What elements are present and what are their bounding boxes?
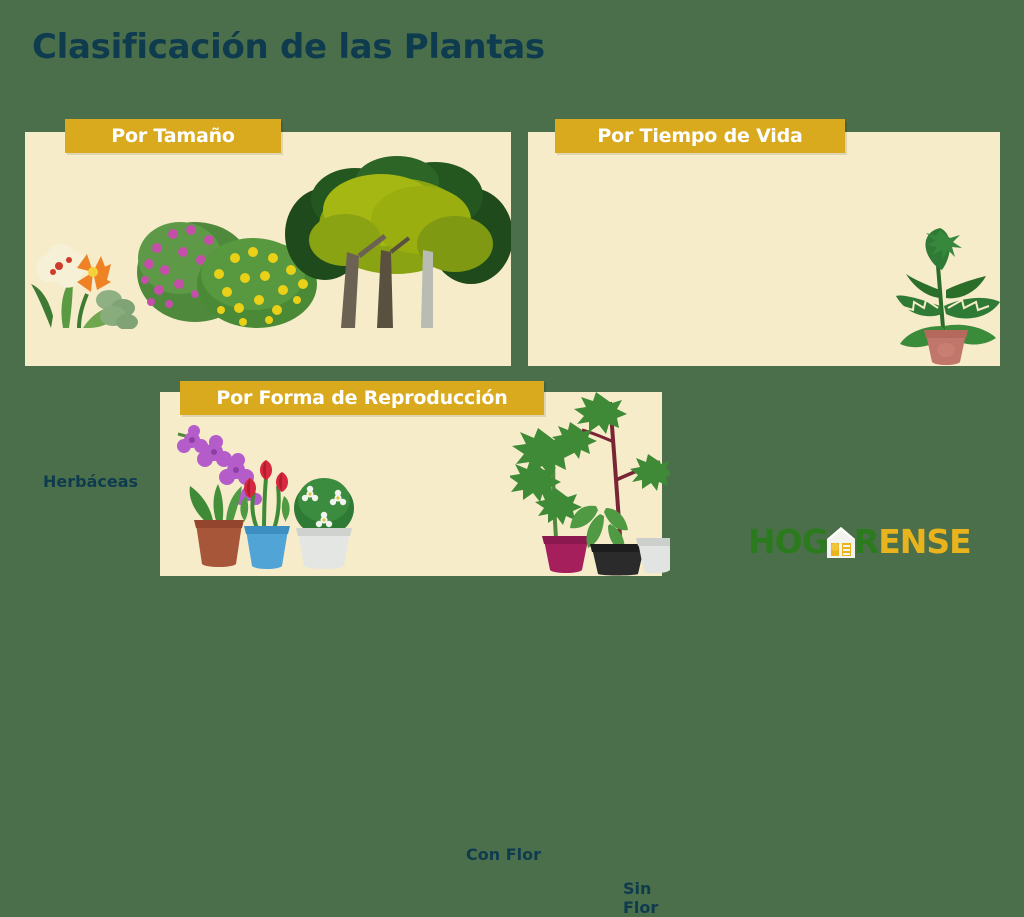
panel-por-forma-de-reproduccion: Con Flor Sin Flor [160, 392, 662, 576]
panel-por-tiempo-de-vida: PRIMAVERA / VERANO OTOÑO / INVERNO Anual… [528, 132, 1000, 366]
logo-text-part3: ENSE [878, 525, 970, 558]
label-sin-flor: Sin Flor [623, 879, 662, 917]
planta-maceta-illustration [896, 222, 1008, 366]
badge-por-tamano: Por Tamaño [65, 119, 281, 153]
label-con-flor: Con Flor [466, 845, 541, 864]
house-icon [826, 526, 856, 559]
con-flor-illustration [174, 416, 364, 574]
logo-text-part2: R [854, 525, 878, 558]
herbaceas-illustration [23, 224, 141, 329]
logo-text-part1: HOG [748, 525, 828, 558]
sin-flor-illustration [510, 388, 670, 576]
hogarense-logo[interactable]: HOG R ENSE [748, 525, 971, 558]
badge-por-forma-de-reproduccion: Por Forma de Reproducción [180, 381, 544, 415]
infographic-canvas: Clasificación de las Plantas [0, 0, 1024, 576]
badge-por-tiempo-de-vida: Por Tiempo de Vida [555, 119, 845, 153]
label-herbaceas: Herbáceas [43, 472, 138, 491]
panel-por-tamano: Herbáceas Arbustos Arboles [25, 132, 511, 366]
page-title: Clasificación de las Plantas [32, 27, 545, 67]
arboles-illustration [285, 152, 511, 332]
